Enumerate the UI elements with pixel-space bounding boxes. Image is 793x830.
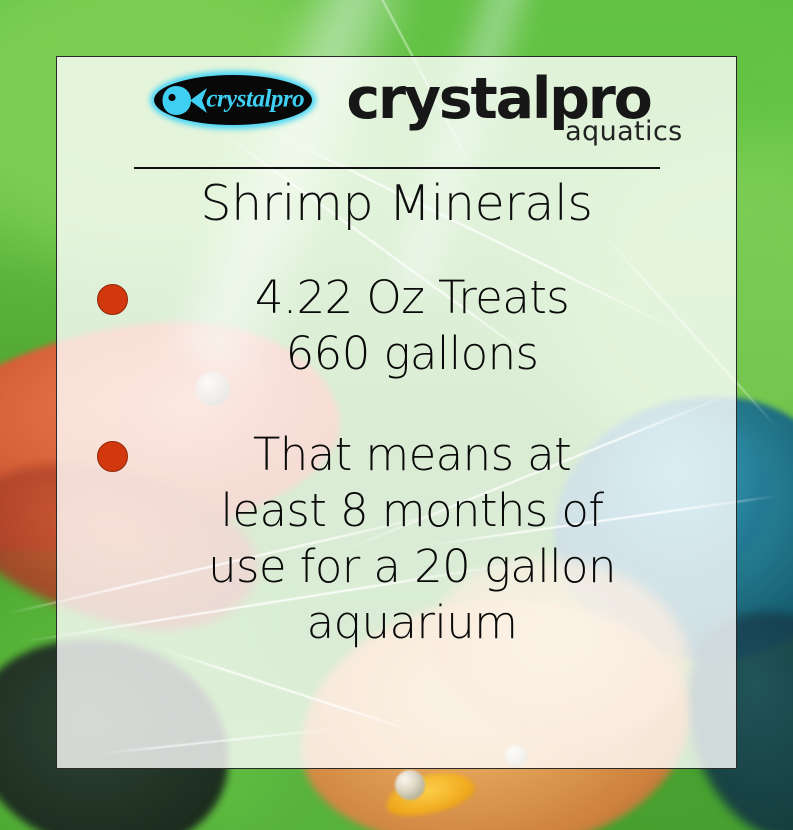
crystalpro-logo-badge: crystalpro [150,71,316,129]
info-card: crystalpro crystalpro aquatics Shrimp Mi… [56,56,737,769]
bullet-line: aquarium [132,595,692,651]
bullet-line: 4.22 Oz Treats [132,270,692,326]
bullet-dot-icon [97,441,128,472]
bullet-line: least 8 months of [132,483,692,539]
bullet-line: 660 gallons [132,326,692,382]
bullet-line: use for a 20 gallon [132,539,692,595]
crystalpro-wordmark: crystalpro aquatics [346,72,650,128]
bullet-line: That means at [132,427,692,483]
header-divider [134,167,660,169]
bullet-text: 4.22 Oz Treats 660 gallons [132,270,710,382]
water-bubble [395,770,425,800]
bullet-text: That means at least 8 months of use for … [132,427,710,650]
wordmark-sub: aquatics [565,116,683,147]
brand-header: crystalpro crystalpro aquatics [57,71,736,129]
fish-icon [161,84,209,117]
list-item: That means at least 8 months of use for … [83,427,710,650]
page-title: Shrimp Minerals [200,177,592,232]
feature-bullet-list: 4.22 Oz Treats 660 gallons That means at… [57,270,736,651]
bullet-dot-icon [97,284,128,315]
badge-text: crystalpro [206,85,304,113]
list-item: 4.22 Oz Treats 660 gallons [83,270,710,382]
